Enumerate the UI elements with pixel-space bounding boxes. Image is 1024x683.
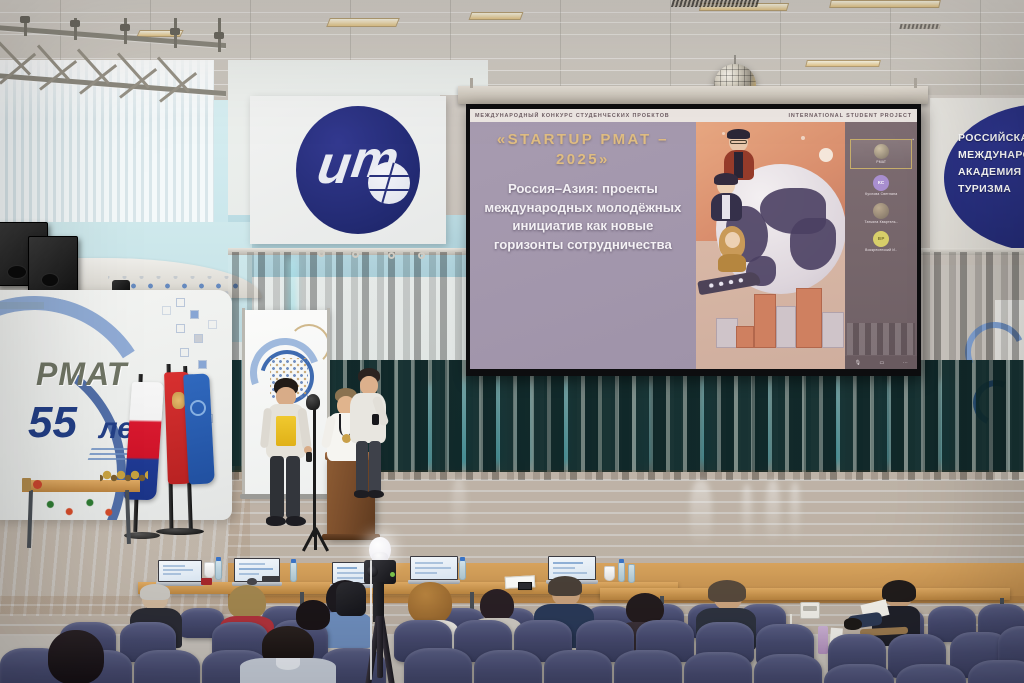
illustration-building	[796, 288, 822, 348]
camera-indicator	[390, 572, 395, 577]
avatar-initials: КС	[873, 175, 889, 191]
camera-bag	[336, 582, 366, 616]
hair	[228, 585, 266, 619]
ceiling-light	[326, 18, 400, 27]
shoe	[266, 516, 286, 526]
slide-illustration	[696, 122, 846, 369]
vc-participant-row[interactable]: Татьяна Квартель..	[850, 200, 912, 226]
paper-cup	[604, 566, 615, 581]
ceiling-light	[829, 0, 941, 8]
rmat-right-banner-text: РОССИЙСКАЯ МЕЖДУНАРОДНАЯ АКАДЕМИЯ ТУРИЗМ…	[958, 130, 1024, 198]
bottle-cap	[619, 559, 624, 563]
hair	[48, 630, 104, 683]
jar	[22, 478, 31, 491]
projection-screen: МЕЖДУНАРОДНЫЙ КОНКУРС СТУДЕНЧЕСКИХ ПРОЕК…	[466, 104, 921, 376]
banner-line-3: АКАДЕМИЯ	[958, 164, 1024, 181]
audience-person-foreground	[30, 630, 110, 683]
floor-reflection	[790, 482, 800, 546]
slide-text-column: «STARTUP РМАТ – 2025» Россия–Азия: проек…	[470, 122, 696, 369]
slide-title: «STARTUP РМАТ – 2025»	[476, 130, 690, 170]
illustration-building	[754, 294, 776, 348]
floor-reflection	[766, 480, 780, 546]
flag-base	[156, 528, 204, 535]
lighting-truss	[0, 18, 234, 118]
floor-reflection	[452, 478, 466, 538]
truss-clamp	[70, 20, 80, 27]
slide-header-left: МЕЖДУНАРОДНЫЙ КОНКУРС СТУДЕНЧЕСКИХ ПРОЕК…	[475, 113, 670, 119]
rollup-swoosh	[288, 324, 330, 366]
pa-speaker	[28, 236, 78, 294]
vc-participant-name: Куслова Светлана	[865, 192, 897, 196]
hair	[708, 580, 746, 602]
hair	[408, 582, 452, 624]
chair[interactable]	[474, 650, 542, 683]
illustration-student-2	[710, 174, 744, 220]
more-icon[interactable]: ⋯	[903, 360, 908, 366]
rollup-frame-left	[242, 308, 245, 498]
exhibit-items	[100, 468, 148, 482]
banner-line-4: ТУРИЗМА	[958, 181, 1024, 198]
avatar	[873, 203, 889, 219]
wall-socket-slot	[803, 606, 817, 611]
truss-clamp	[214, 32, 224, 39]
vc-video-thumbnail-strip[interactable]	[847, 323, 915, 355]
screen-mount-right	[914, 78, 917, 88]
banner-line-1: РОССИЙСКАЯ	[958, 130, 1024, 147]
stationery	[201, 578, 212, 585]
flag-emblem	[172, 392, 185, 409]
vc-participant-tile-pinned[interactable]: РМАТ	[850, 139, 912, 169]
shoe	[286, 516, 306, 526]
apple	[33, 480, 42, 489]
truss-clamp	[120, 24, 130, 31]
ceiling-vent	[899, 24, 940, 29]
slide-subtitle: Россия–Азия: проекты международных молод…	[476, 180, 690, 254]
mic-tripod-leg	[314, 528, 317, 550]
tshirt-print	[276, 416, 296, 446]
leg	[356, 441, 368, 493]
hair	[480, 589, 514, 621]
shoe	[368, 490, 384, 498]
chair[interactable]	[754, 654, 822, 683]
water-bottle	[290, 562, 297, 582]
slide-header: МЕЖДУНАРОДНЫЙ КОНКУРС СТУДЕНЧЕСКИХ ПРОЕК…	[470, 109, 917, 122]
presenter-1	[262, 378, 310, 530]
ceiling-light	[469, 12, 524, 20]
avatar-initials-text: КС	[878, 180, 885, 185]
hair	[882, 580, 916, 602]
slide-header-right: INTERNATIONAL STUDENT PROJECT	[788, 113, 912, 119]
chair[interactable]	[614, 650, 682, 683]
hair	[140, 584, 170, 600]
phone	[372, 414, 379, 425]
screen-mount-left	[470, 78, 473, 88]
illustration-building	[736, 326, 754, 348]
slide-body: «STARTUP РМАТ – 2025» Россия–Азия: проек…	[470, 122, 917, 369]
avatar-initials: ВР	[873, 231, 889, 247]
chair[interactable]	[404, 648, 472, 683]
truss-clamp	[170, 28, 180, 35]
vc-participant-name: Татьяна Квартель..	[864, 220, 898, 224]
leg	[270, 456, 284, 518]
chair[interactable]	[896, 664, 966, 683]
leg	[369, 441, 381, 493]
hair	[296, 600, 330, 630]
rmat-banner-word: РМАТ	[36, 356, 127, 393]
mouse[interactable]	[247, 578, 257, 585]
decorative-tablecloth	[40, 490, 126, 526]
ceiling-vent	[671, 0, 759, 7]
illustration-building	[716, 318, 738, 348]
mic-icon[interactable]: 🎙	[855, 360, 861, 366]
water-bottle	[215, 560, 222, 580]
rmat-banner-number: 55	[28, 398, 77, 448]
vc-participant-row[interactable]: ВР Воскресенский И..	[850, 228, 912, 254]
thermos	[818, 626, 828, 654]
video-conference-sidebar: — ▪ РМАТ КС Куслова Светлана Татьяна Кв	[845, 122, 917, 369]
hair	[548, 576, 582, 596]
presenter-3	[348, 368, 388, 498]
floor-reflection	[690, 480, 712, 550]
avatar-initials-text: ВР	[878, 236, 885, 241]
laptop[interactable]	[408, 556, 460, 584]
remote-clicker	[306, 452, 312, 462]
vc-participant-name: Воскресенский И..	[865, 248, 897, 252]
water-bottle	[459, 560, 466, 580]
shoe	[844, 618, 862, 630]
ceiling-light	[805, 60, 881, 67]
ito-logo-globe-lines	[368, 162, 410, 204]
bottle-cap	[216, 557, 221, 561]
chair[interactable]	[684, 652, 752, 683]
laptop[interactable]	[156, 560, 204, 586]
vc-participant-name: РМАТ	[876, 160, 886, 164]
vc-participant-row[interactable]: КС Куслова Светлана	[850, 172, 912, 198]
camera-lens	[367, 566, 378, 577]
chair[interactable]	[824, 664, 894, 683]
illustration-student-3	[716, 226, 748, 270]
paper-cup	[204, 562, 215, 578]
chair[interactable]	[544, 650, 612, 683]
shirt-collar	[276, 658, 300, 670]
tripod-leg[interactable]	[377, 616, 383, 678]
conference-hall-photo: и т РОССИЙСКАЯ МЕЖДУНАРОДНАЯ АКАДЕМИЯ ТУ…	[0, 0, 1024, 683]
glasses-icon	[730, 140, 747, 144]
water-bottle	[628, 564, 635, 583]
illustration-student-1	[722, 130, 756, 178]
camera-cable	[370, 560, 372, 680]
banner-line-2: МЕЖДУНАРОДНАЯ	[958, 147, 1024, 164]
illustration-building	[776, 306, 796, 348]
chair[interactable]	[134, 650, 200, 683]
chair[interactable]	[968, 660, 1024, 683]
leg	[286, 456, 300, 518]
audience-person-foreground	[290, 600, 336, 648]
stationery	[262, 576, 280, 582]
podium-base	[322, 534, 380, 540]
projection-screen-case	[458, 86, 928, 104]
banner-stripe-decor	[0, 302, 44, 309]
camera-icon[interactable]: ▭	[880, 360, 885, 366]
slide-surface: МЕЖДУНАРОДНЫЙ КОНКУРС СТУДЕНЧЕСКИХ ПРОЕК…	[470, 109, 917, 369]
water-bottle	[618, 562, 625, 582]
illustration-building	[822, 312, 844, 348]
flag-emblem	[190, 400, 206, 416]
bottle-cap	[460, 557, 465, 561]
microphone-stand	[313, 403, 316, 537]
avatar	[874, 144, 889, 159]
vc-toolbar[interactable]: 🎙 ▭ ⋯	[845, 356, 917, 369]
bottle-cap	[291, 559, 296, 563]
documents	[518, 582, 532, 590]
truss-clamp	[20, 16, 30, 23]
floor-reflection	[742, 484, 752, 546]
